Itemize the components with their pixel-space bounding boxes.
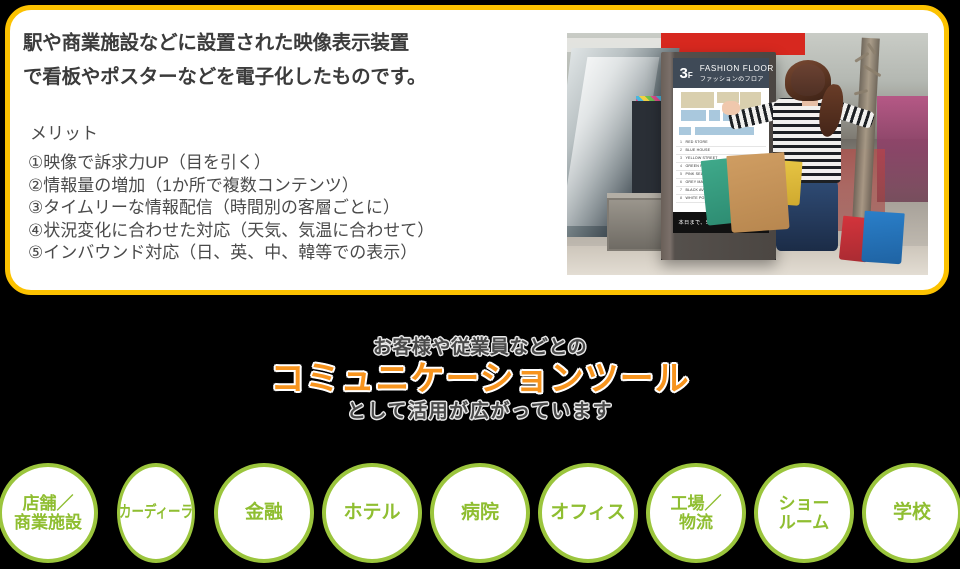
signage-title-ja: ファッションのフロア (700, 74, 774, 83)
store-number: 7 (676, 188, 685, 192)
store-number: 4 (676, 164, 685, 168)
circle-label-line: 学校 (893, 502, 931, 523)
circle-label-line: オフィス (550, 502, 626, 523)
merit-item: ②情報量の増加（1か所で複数コンテンツ） (28, 175, 434, 198)
industry-circle-car-dealer[interactable]: カーディーラ (117, 463, 195, 563)
industry-circle-finance[interactable]: 金融 (214, 463, 314, 563)
circle-label-line: 店舗／ (23, 494, 74, 513)
description-card: 駅や商業施設などに設置された映像表示装置 で看板やポスターなどを電子化したもので… (5, 5, 949, 295)
circle-label-line: ホテル (343, 502, 400, 523)
photo-planter (607, 198, 668, 251)
circle-label-line: カーディーラ (119, 504, 193, 522)
merit-item: ④状況変化に合わせた対応（天気、気温に合わせて） (28, 220, 434, 243)
mid-headline: お客様や従業員などとの コミュニケーションツール として活用が広がっています (0, 336, 960, 424)
headline-line-2: で看板やポスターなどを電子化したものです。 (23, 60, 543, 94)
store-row: 1RED STORE (676, 139, 766, 147)
industry-circle-hospital[interactable]: 病院 (430, 463, 530, 563)
headline-line-1: 駅や商業施設などに設置された映像表示装置 (23, 26, 543, 60)
merit-item: ③タイムリーな情報配信（時間別の客層ごとに） (28, 197, 434, 220)
store-number: 1 (676, 140, 685, 144)
store-name: RED STORE (685, 140, 707, 144)
merit-item: ①映像で訴求力UP（目を引く） (28, 152, 434, 175)
circle-label-line: ショー (779, 494, 830, 513)
circle-label-line: 工場／ (671, 494, 722, 513)
industry-circle-retail[interactable]: 店舗／ 商業施設 (0, 463, 98, 563)
card-headline: 駅や商業施設などに設置された映像表示装置 で看板やポスターなどを電子化したもので… (23, 26, 543, 94)
mid-headline-line-2: コミュニケーションツール (0, 359, 960, 399)
signage-screen-header: 3F FASHION FLOOR ファッションのフロア (673, 58, 769, 88)
circle-label-line: ルーム (779, 513, 830, 532)
circle-label-line: 病院 (461, 502, 499, 523)
signage-title-en: FASHION FLOOR (700, 64, 774, 73)
photo-store-right (877, 96, 928, 202)
slide-root: 駅や商業施設などに設置された映像表示装置 で看板やポスターなどを電子化したもので… (0, 0, 960, 569)
industry-circle-school[interactable]: 学校 (862, 463, 960, 563)
industry-circle-office[interactable]: オフィス (538, 463, 638, 563)
industry-circle-row: 店舗／ 商業施設 カーディーラ 金融 ホテル 病院 オフィス 工場／ 物流 ショ… (0, 463, 960, 569)
industry-circle-hotel[interactable]: ホテル (322, 463, 422, 563)
photo-shopping-bag-blue (861, 211, 904, 264)
circle-label-line: 商業施設 (14, 513, 82, 532)
circle-label-line: 金融 (245, 502, 283, 523)
photo-woman-head (791, 64, 825, 95)
merit-item: ⑤インバウンド対応（日、英、中、韓等での表示） (28, 242, 434, 265)
store-number: 5 (676, 172, 685, 176)
store-number: 6 (676, 180, 685, 184)
mid-headline-line-3: として活用が広がっています (0, 400, 960, 424)
photo-shopping-bag-kraft (727, 152, 790, 233)
photo-woman-hand (722, 101, 740, 116)
signage-titles: FASHION FLOOR ファッションのフロア (700, 64, 774, 83)
industry-circle-showroom[interactable]: ショー ルーム (754, 463, 854, 563)
signage-photo: 3F FASHION FLOOR ファッションのフロア (567, 33, 928, 275)
industry-circle-factory-logistics[interactable]: 工場／ 物流 (646, 463, 746, 563)
signage-floor-number: 3F (679, 66, 692, 81)
merit-title: メリット (30, 123, 98, 145)
store-number: 3 (676, 156, 685, 160)
floor-number-value: 3 (679, 65, 687, 82)
circle-label-line: 物流 (679, 513, 713, 532)
store-number: 2 (676, 148, 685, 152)
store-number: 8 (676, 196, 685, 200)
merit-list: ①映像で訴求力UP（目を引く） ②情報量の増加（1か所で複数コンテンツ） ③タイ… (28, 152, 434, 265)
store-name: BLUE HOUSE (685, 148, 710, 152)
mid-headline-line-1: お客様や従業員などとの (0, 336, 960, 360)
floor-number-suffix: F (688, 71, 693, 80)
